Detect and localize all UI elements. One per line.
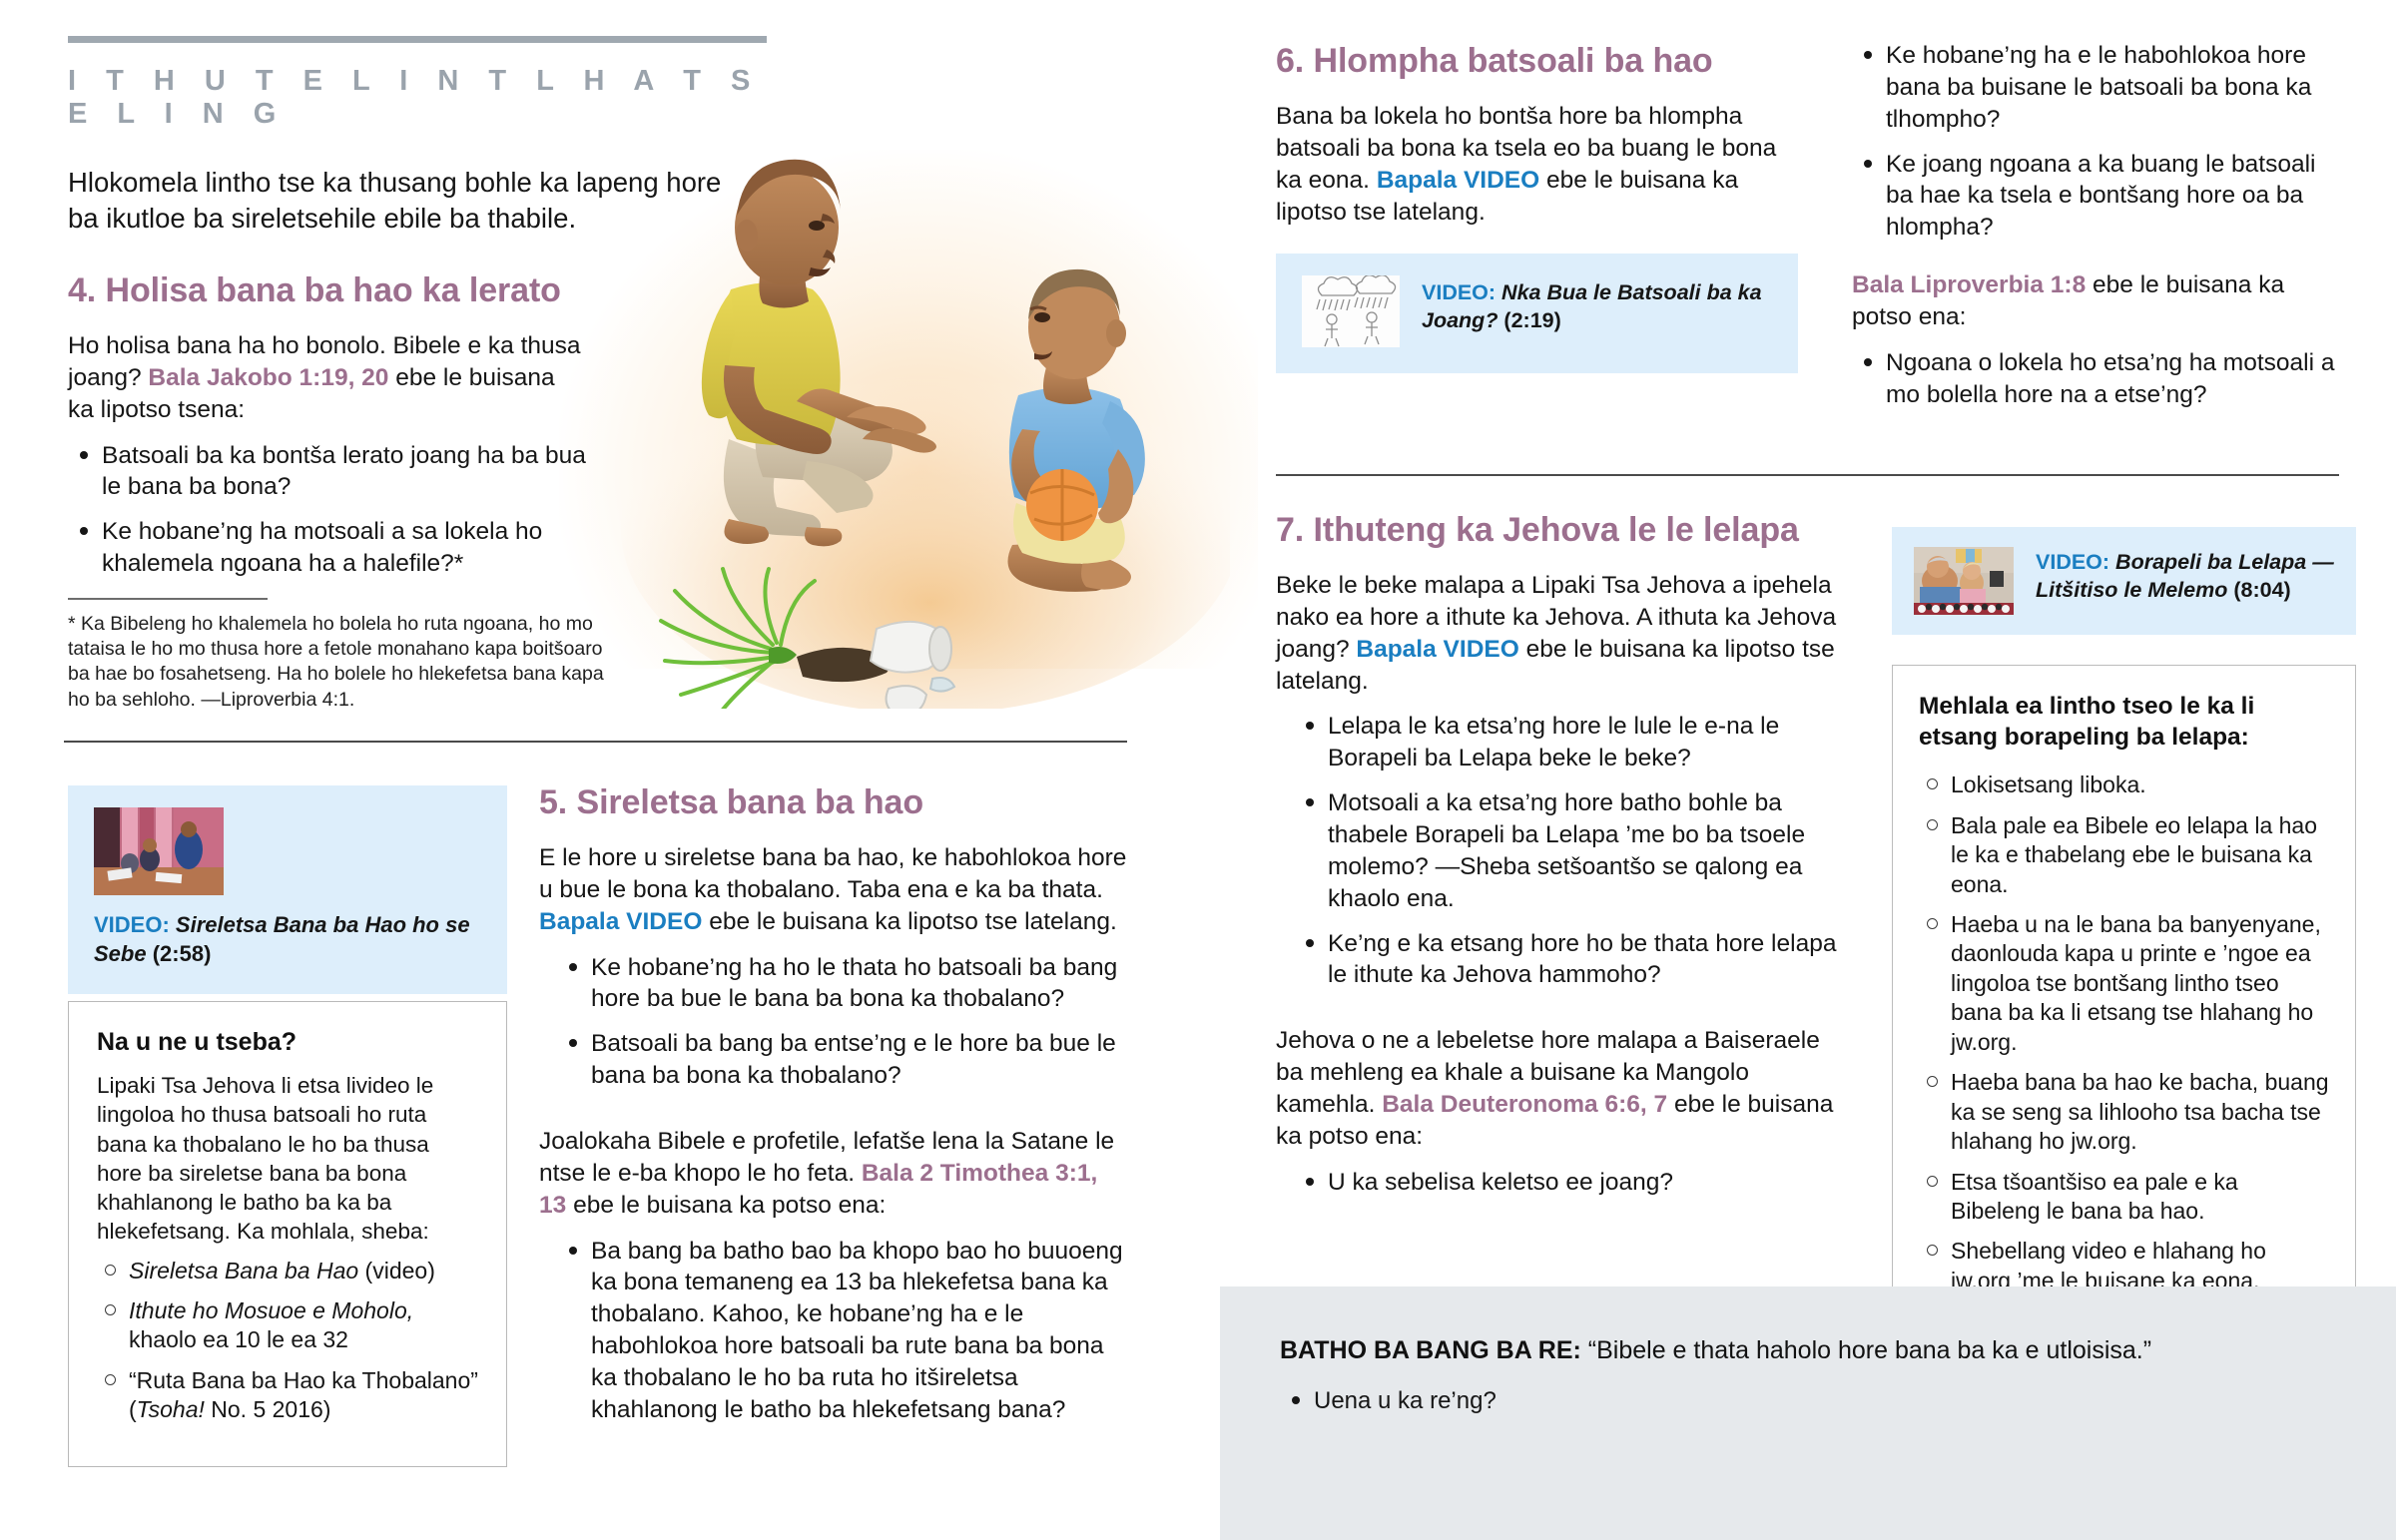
list-item: Ngoana o lokela ho etsa’ng ha motsoali a… xyxy=(1852,347,2341,411)
list-item: Haeba u na le bana ba banyenyane, daonlo… xyxy=(1919,910,2329,1057)
video-caption: VIDEO: Nka Bua le Batsoali ba ka Joang? … xyxy=(1422,275,1772,335)
video-duration: (2:19) xyxy=(1497,308,1560,332)
resource-note: (video) xyxy=(358,1258,435,1283)
list-item: Ba bang ba batho bao ba khopo bao ho buu… xyxy=(557,1236,1128,1426)
section-6-intro: Bana ba lokela ho bontša hore ba hlompha… xyxy=(1276,101,1805,228)
section-5-question-list-2: Ba bang ba batho bao ba khopo bao ho buu… xyxy=(539,1236,1128,1426)
family-worship-ideas-list: Lokisetsang liboka. Bala pale ea Bibele … xyxy=(1919,770,2329,1295)
section-6-ref-line: Bala Liproverbia 1:8 ebe le buisana ka p… xyxy=(1852,269,2321,333)
list-item: Etsa tšoantšiso ea pale e ka Bibeleng le… xyxy=(1919,1168,2329,1227)
list-item: “Ruta Bana ba Hao ka Thobalano” (Tsoha! … xyxy=(97,1366,478,1425)
video-card-borapeli[interactable]: VIDEO: Borapeli ba Lelapa —Litšitiso le … xyxy=(1892,527,2356,635)
section-4: 4. Holisa bana ba hao ka lerato Ho holis… xyxy=(68,271,627,713)
band-question-list: Uena u ka re’ng? xyxy=(1280,1385,2336,1416)
video-card-sireletsa[interactable]: VIDEO: Sireletsa Bana ba Hao ho se Sebe … xyxy=(68,785,507,994)
list-item: Ke hobane’ng ha e le habohlokoa hore ban… xyxy=(1852,40,2341,136)
list-item: U ka sebelisa keletso ee joang? xyxy=(1294,1167,1845,1199)
resource-title: Sireletsa Bana ba Hao xyxy=(129,1258,358,1283)
some-people-say-band: BATHO BA BANG BA RE: “Bibele e thata hah… xyxy=(1220,1286,2396,1540)
video-card-body[interactable]: VIDEO: Sireletsa Bana ba Hao ho se Sebe … xyxy=(68,785,507,994)
resource-note: khaolo ea 10 le ea 32 xyxy=(129,1326,348,1352)
section-7-intro: Beke le beke malapa a Lipaki Tsa Jehova … xyxy=(1276,570,1845,697)
section-5-intro-b: ebe le buisana ka lipotso tse latelang. xyxy=(702,908,1116,935)
section-7: 7. Ithuteng ka Jehova le le lelapa Beke … xyxy=(1276,511,1855,1211)
section-7-question-list-2: U ka sebelisa keletso ee joang? xyxy=(1276,1167,1845,1199)
section-4-heading: 4. Holisa bana ba hao ka lerato xyxy=(68,271,627,310)
father-and-son-illustration xyxy=(611,110,1230,709)
band-inner: BATHO BA BANG BA RE: “Bibele e thata hah… xyxy=(1220,1286,2396,1416)
section-4-footnote: * Ka Bibeleng ho khalemela ho bolela ho … xyxy=(68,612,622,713)
did-you-know-box: Na u ne u tseba? Lipaki Tsa Jehova li et… xyxy=(68,1001,507,1467)
list-item: Uena u ka re’ng? xyxy=(1280,1385,2336,1416)
section-4-intro: Ho holisa bana ha ho bonolo. Bibele e ka… xyxy=(68,330,587,426)
family-worship-ideas-heading: Mehlala ea lintho tseo le ka li etsang b… xyxy=(1919,692,2329,753)
section-4-question-list: Batsoali ba ka bontša lerato joang ha ba… xyxy=(68,440,587,580)
section-5-para-2: Joalokaha Bibele e profetile, lefatše le… xyxy=(539,1126,1128,1222)
scripture-ref-liproverbia[interactable]: Bala Liproverbia 1:8 xyxy=(1852,271,2086,298)
section-5: 5. Sireletsa bana ba hao E le hore u sir… xyxy=(539,783,1138,1439)
column-divider-left xyxy=(64,741,1127,743)
column-divider-right xyxy=(1276,474,2339,476)
list-item: Lokisetsang liboka. xyxy=(1919,770,2329,799)
section-6-heading: 6. Hlompha batsoali ba hao xyxy=(1276,42,1835,81)
list-item: Haeba bana ba hao ke bacha, buang ka se … xyxy=(1919,1068,2329,1156)
list-item: Bala pale ea Bibele eo lelapa la hao le … xyxy=(1919,811,2329,899)
section-5-question-list: Ke hobane’ng ha ho le thata ho batsoali … xyxy=(539,952,1128,1092)
video-duration: (8:04) xyxy=(2227,578,2290,602)
resource-note-2: No. 5 2016) xyxy=(205,1396,331,1422)
section-5-heading: 5. Sireletsa bana ba hao xyxy=(539,783,1138,822)
section-6: 6. Hlompha batsoali ba hao Bana ba lokel… xyxy=(1276,42,1835,373)
video-card-nka-bua[interactable]: VIDEO: Nka Bua le Batsoali ba ka Joang? … xyxy=(1276,254,1798,373)
list-item: Ke hobane’ng ha ho le thata ho batsoali … xyxy=(557,952,1128,1016)
resource-title: Tsoha! xyxy=(137,1396,205,1422)
section-5-intro-a: E le hore u sireletse bana ba hao, ke ha… xyxy=(539,844,1126,903)
section-5-intro: E le hore u sireletse bana ba hao, ke ha… xyxy=(539,842,1128,938)
list-item: Ke’ng e ka etsang hore ho be thata hore … xyxy=(1294,928,1845,992)
did-you-know-text: Lipaki Tsa Jehova li etsa livideo le lin… xyxy=(97,1071,478,1247)
section-7-para-2: Jehova o ne a lebeletse hore malapa a Ba… xyxy=(1276,1025,1845,1152)
video-key: VIDEO: xyxy=(94,912,170,937)
masthead-rule xyxy=(68,36,767,43)
list-item: Batsoali ba bang ba entse’ng e le hore b… xyxy=(557,1028,1128,1092)
list-item: Ithute ho Mosuoe e Moholo, khaolo ea 10 … xyxy=(97,1296,478,1355)
video-thumbnail[interactable] xyxy=(94,807,224,895)
did-you-know-heading: Na u ne u tseba? xyxy=(97,1028,478,1057)
video-key: VIDEO: xyxy=(1422,280,1496,304)
did-you-know-list: Sireletsa Bana ba Hao (video) Ithute ho … xyxy=(97,1257,478,1425)
video-caption: VIDEO: Borapeli ba Lelapa —Litšitiso le … xyxy=(2036,547,2334,605)
play-video-link[interactable]: Bapala VIDEO xyxy=(1377,167,1539,194)
section-7-question-list: Lelapa le ka etsa’ng hore le lule le e-n… xyxy=(1276,711,1845,991)
scripture-ref-jakobo[interactable]: Bala Jakobo 1:19, 20 xyxy=(148,364,388,391)
band-lead: BATHO BA BANG BA RE: “Bibele e thata hah… xyxy=(1280,1334,2336,1367)
list-item: Lelapa le ka etsa’ng hore le lule le e-n… xyxy=(1294,711,1845,774)
play-video-link[interactable]: Bapala VIDEO xyxy=(539,908,702,935)
band-lead-label: BATHO BA BANG BA RE: xyxy=(1280,1336,1581,1364)
video-key: VIDEO: xyxy=(2036,550,2109,574)
list-item: Sireletsa Bana ba Hao (video) xyxy=(97,1257,478,1285)
list-item: Ke joang ngoana a ka buang le batsoali b… xyxy=(1852,149,2341,245)
resource-title: Ithute ho Mosuoe e Moholo, xyxy=(129,1297,413,1323)
section-6-question-list: Ke hobane’ng ha e le habohlokoa hore ban… xyxy=(1852,40,2341,244)
video-duration: (2:58) xyxy=(147,941,212,966)
video-caption: VIDEO: Sireletsa Bana ba Hao ho se Sebe … xyxy=(94,911,481,968)
section-6-question-list-2: Ngoana o lokela ho etsa’ng ha motsoali a… xyxy=(1852,347,2341,411)
video-thumbnail[interactable] xyxy=(1302,275,1400,347)
list-item: Ke hobane’ng ha motsoali a sa lokela ho … xyxy=(68,516,587,580)
play-video-link[interactable]: Bapala VIDEO xyxy=(1356,636,1518,663)
footnote-divider xyxy=(68,598,268,600)
section-5-para2-b: ebe le buisana ka potso ena: xyxy=(566,1192,886,1219)
family-worship-ideas-box: Mehlala ea lintho tseo le ka li etsang b… xyxy=(1892,665,2356,1341)
list-item: Motsoali a ka etsa’ng hore batho bohle b… xyxy=(1294,787,1845,914)
band-lead-quote: “Bibele e thata haholo hore bana ba ka e… xyxy=(1581,1336,2151,1364)
scripture-ref-deuteronoma[interactable]: Bala Deuteronoma 6:6, 7 xyxy=(1382,1091,1667,1118)
article-page: I T H U T E L I N T L H A T S E L I N G … xyxy=(0,0,2396,1540)
section-7-heading: 7. Ithuteng ka Jehova le le lelapa xyxy=(1276,511,1855,550)
section-7-sidebar: VIDEO: Borapeli ba Lelapa —Litšitiso le … xyxy=(1892,527,2356,1341)
video-thumbnail[interactable] xyxy=(1914,547,2014,615)
list-item: Batsoali ba ka bontša lerato joang ha ba… xyxy=(68,440,587,504)
section-6-sidebar: Ke hobane’ng ha e le habohlokoa hore ban… xyxy=(1852,40,2361,423)
